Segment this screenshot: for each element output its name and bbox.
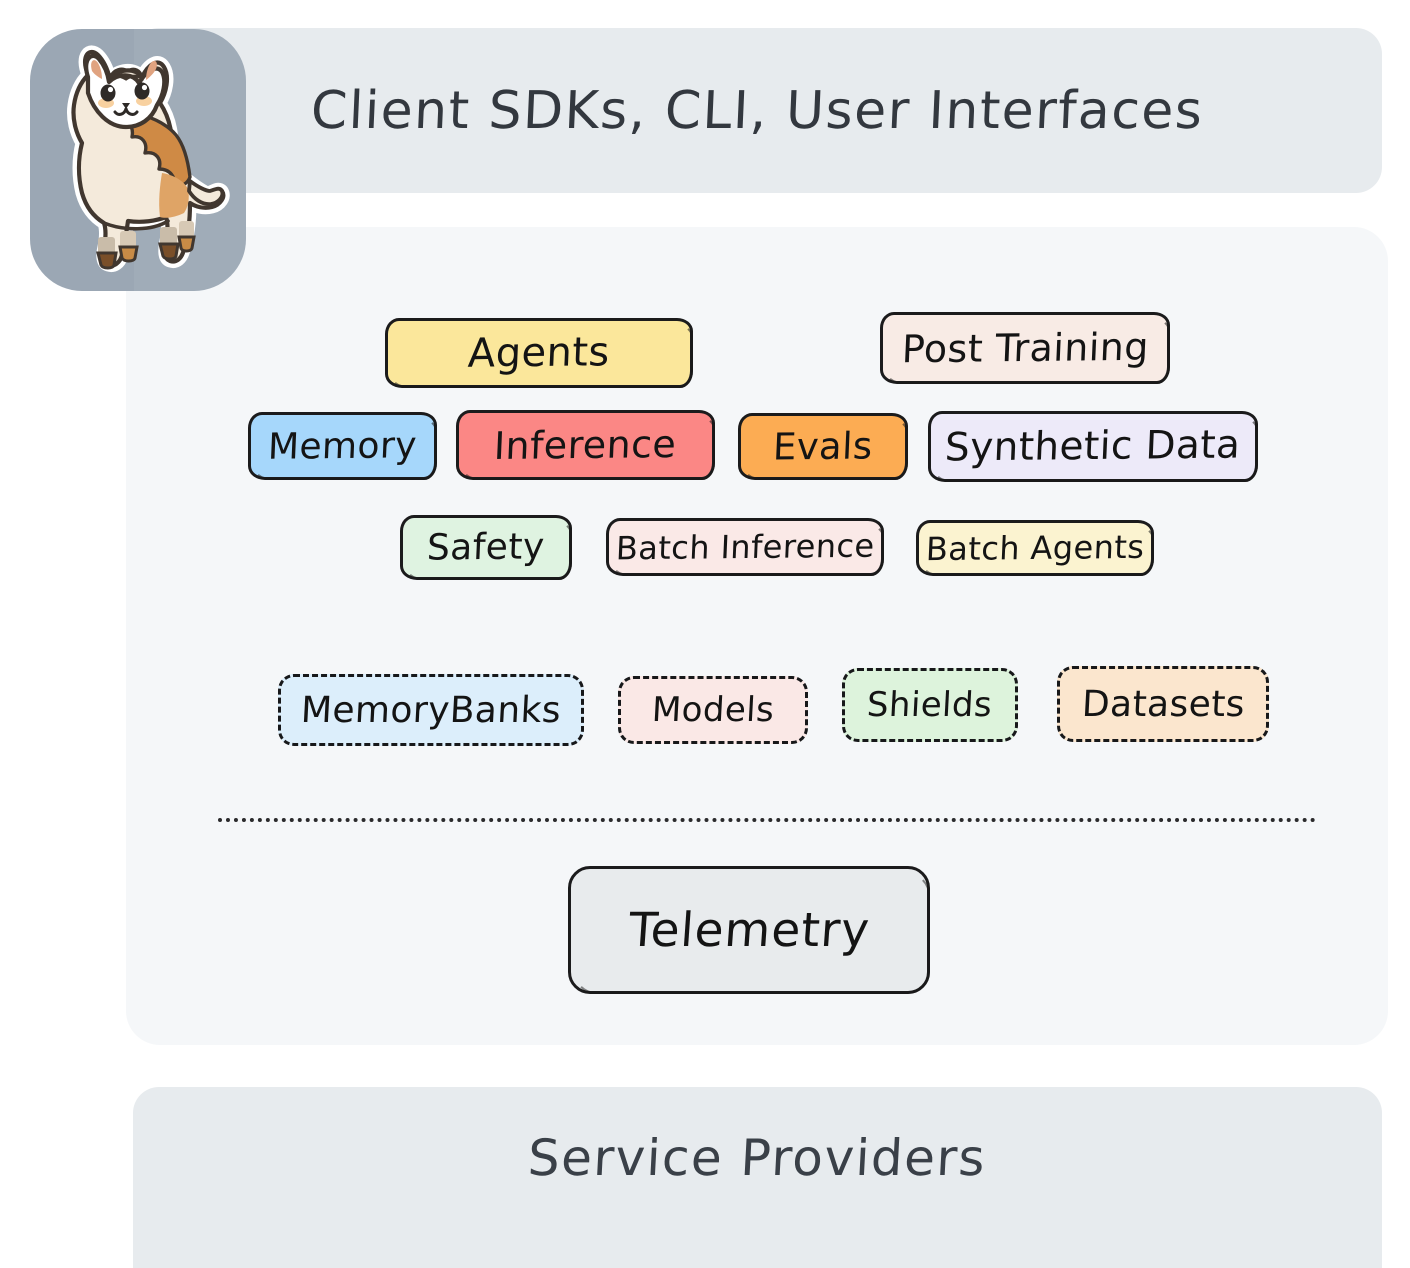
api-box-label: Safety — [426, 526, 545, 568]
api-box-label: Batch Inference — [615, 527, 875, 568]
api-box-batch-inference[interactable]: Batch Inference — [606, 518, 884, 576]
telemetry-box[interactable]: Telemetry — [568, 866, 930, 994]
service-providers-band: Service Providers — [133, 1087, 1382, 1268]
resource-box-memorybanks[interactable]: MemoryBanks — [278, 674, 584, 746]
resource-box-label: Datasets — [1080, 684, 1245, 725]
client-interfaces-label: Client SDKs, CLI, User Interfaces — [310, 81, 1205, 141]
telemetry-label: Telemetry — [627, 903, 872, 958]
api-box-label: Memory — [267, 425, 418, 468]
section-divider — [218, 818, 1316, 822]
api-box-label: Synthetic Data — [944, 422, 1241, 470]
api-box-evals[interactable]: Evals — [738, 413, 908, 480]
client-interfaces-band: Client SDKs, CLI, User Interfaces — [133, 28, 1382, 193]
api-box-safety[interactable]: Safety — [400, 515, 572, 580]
api-box-memory[interactable]: Memory — [248, 412, 437, 480]
api-box-label: Evals — [772, 424, 873, 468]
api-box-label: Agents — [467, 329, 611, 376]
api-box-label: Inference — [493, 422, 677, 468]
llama-logo-icon — [36, 41, 236, 281]
resource-box-datasets[interactable]: Datasets — [1057, 666, 1269, 742]
api-box-agents[interactable]: Agents — [385, 318, 693, 388]
resource-box-label: Shields — [866, 685, 993, 725]
resource-box-label: MemoryBanks — [300, 690, 562, 731]
api-box-synthetic-data[interactable]: Synthetic Data — [928, 411, 1258, 482]
llama-logo-tile — [30, 29, 246, 291]
resource-box-label: Models — [651, 690, 775, 730]
diagram-canvas: Client SDKs, CLI, User Interfaces — [0, 0, 1410, 1268]
api-box-inference[interactable]: Inference — [456, 410, 715, 480]
api-box-label: Post Training — [901, 325, 1150, 372]
api-box-label: Batch Agents — [925, 528, 1145, 568]
api-box-post-training[interactable]: Post Training — [880, 312, 1170, 384]
api-box-batch-agents[interactable]: Batch Agents — [916, 520, 1154, 576]
resource-box-models[interactable]: Models — [618, 676, 808, 744]
resource-box-shields[interactable]: Shields — [842, 668, 1018, 742]
service-providers-label: Service Providers — [527, 1129, 988, 1187]
